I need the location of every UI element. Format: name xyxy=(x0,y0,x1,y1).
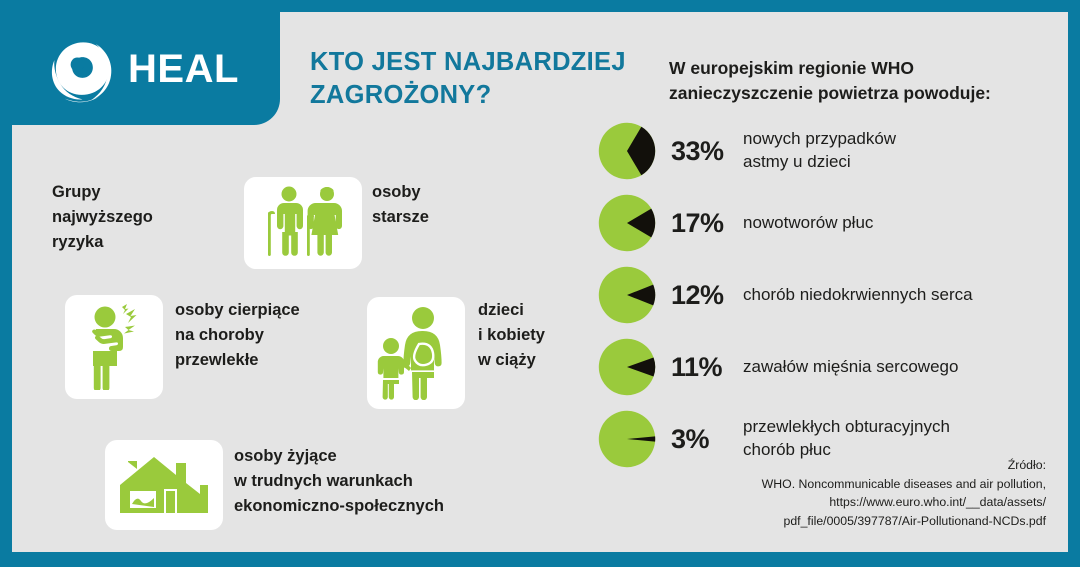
risk-group-card-elderly xyxy=(244,177,362,269)
pregnant-woman-with-child-icon xyxy=(376,306,456,400)
stat-label-line-1: zawałów mięśnia sercowego xyxy=(743,356,958,379)
source-line-4: pdf_file/0005/397787/Air-Pollutionand-NC… xyxy=(626,512,1046,530)
stat-label: nowotworów płuc xyxy=(743,212,873,235)
risk-group-label-elderly-line-1: osoby xyxy=(372,180,502,205)
risk-group-card-chronic-illness xyxy=(65,295,163,399)
risk-group-label-housing-line-1: osoby żyjące xyxy=(234,444,524,469)
risk-group-label-elderly: osoby starsze xyxy=(372,180,502,230)
stat-label-line-2: astmy u dzieci xyxy=(743,151,896,174)
page-title: KTO JEST NAJBARDZIEJ ZAGROŻONY? xyxy=(310,46,660,112)
heal-swirl-logo-icon xyxy=(44,32,118,106)
stats-heading: W europejskim regionie WHO zanieczyszcze… xyxy=(669,56,1069,107)
stat-row: 12% chorób niedokrwiennych serca xyxy=(597,259,1067,331)
risk-groups-title-line-2: najwyższego xyxy=(52,205,212,230)
stat-label: przewlekłych obturacyjnych chorób płuc xyxy=(743,416,950,462)
source-line-2: WHO. Noncommunicable diseases and air po… xyxy=(626,475,1046,493)
stat-label: zawałów mięśnia sercowego xyxy=(743,356,958,379)
risk-groups-title: Grupy najwyższego ryzyka xyxy=(52,180,212,254)
stats-heading-line-1: W europejskim regionie WHO xyxy=(669,56,1069,81)
house-icon xyxy=(116,451,212,519)
risk-group-label-children-pregnant: dzieci i kobiety w ciąży xyxy=(478,298,598,372)
stat-label: chorób niedokrwiennych serca xyxy=(743,284,973,307)
risk-group-card-children-pregnant xyxy=(367,297,465,409)
pie-chart-lung-cancer xyxy=(597,193,657,253)
stats-heading-line-2: zanieczyszczenie powietrza powoduje: xyxy=(669,81,1069,106)
risk-group-label-housing-line-2: w trudnych warunkach xyxy=(234,469,524,494)
brand-name: HEAL xyxy=(128,49,239,89)
risk-group-label-chronic-line-1: osoby cierpiące xyxy=(175,298,355,323)
stat-row: 17% nowotworów płuc xyxy=(597,187,1067,259)
stat-label-line-1: przewlekłych obturacyjnych xyxy=(743,416,950,439)
stat-percent: 12% xyxy=(671,280,739,311)
stat-percent: 3% xyxy=(671,424,739,455)
stat-label-line-1: chorób niedokrwiennych serca xyxy=(743,284,973,307)
risk-group-label-children-line-2: i kobiety xyxy=(478,323,598,348)
source-citation: Źródło: WHO. Noncommunicable diseases an… xyxy=(626,456,1046,530)
page-title-line-1: KTO JEST NAJBARDZIEJ xyxy=(310,46,660,79)
page-title-line-2: ZAGROŻONY? xyxy=(310,79,660,112)
risk-group-label-chronic-line-2: na choroby xyxy=(175,323,355,348)
infographic-frame: HEAL KTO JEST NAJBARDZIEJ ZAGROŻONY? W e… xyxy=(0,0,1080,567)
pie-chart-asthma xyxy=(597,121,657,181)
stat-label: nowych przypadków astmy u dzieci xyxy=(743,128,896,174)
coughing-person-icon xyxy=(75,304,153,390)
source-line-3: https://www.euro.who.int/__data/assets/ xyxy=(626,493,1046,511)
stat-row: 33% nowych przypadków astmy u dzieci xyxy=(597,115,1067,187)
risk-groups-title-line-1: Grupy xyxy=(52,180,212,205)
risk-groups-title-line-3: ryzyka xyxy=(52,230,212,255)
stats-list: 33% nowych przypadków astmy u dzieci 17%… xyxy=(597,115,1067,475)
risk-group-label-elderly-line-2: starsze xyxy=(372,205,502,230)
risk-group-label-housing-line-3: ekonomiczno-społecznych xyxy=(234,494,524,519)
pie-chart-ischemic-heart xyxy=(597,265,657,325)
risk-group-card-housing xyxy=(105,440,223,530)
brand-header-panel: HEAL xyxy=(12,12,280,125)
risk-group-label-chronic-illness: osoby cierpiące na choroby przewlekłe xyxy=(175,298,355,372)
risk-group-label-children-line-3: w ciąży xyxy=(478,348,598,373)
risk-group-label-chronic-line-3: przewlekłe xyxy=(175,348,355,373)
infographic-canvas: HEAL KTO JEST NAJBARDZIEJ ZAGROŻONY? W e… xyxy=(12,12,1068,552)
stat-percent: 17% xyxy=(671,208,739,239)
stat-row: 11% zawałów mięśnia sercowego xyxy=(597,331,1067,403)
source-line-1: Źródło: xyxy=(626,456,1046,474)
stat-percent: 11% xyxy=(671,352,739,383)
stat-label-line-1: nowych przypadków xyxy=(743,128,896,151)
risk-group-label-housing: osoby żyjące w trudnych warunkach ekonom… xyxy=(234,444,524,518)
elderly-couple-icon xyxy=(255,185,351,261)
risk-group-label-children-line-1: dzieci xyxy=(478,298,598,323)
stat-percent: 33% xyxy=(671,136,739,167)
pie-chart-heart-attack xyxy=(597,337,657,397)
stat-label-line-1: nowotworów płuc xyxy=(743,212,873,235)
brand-logo: HEAL xyxy=(44,32,239,106)
